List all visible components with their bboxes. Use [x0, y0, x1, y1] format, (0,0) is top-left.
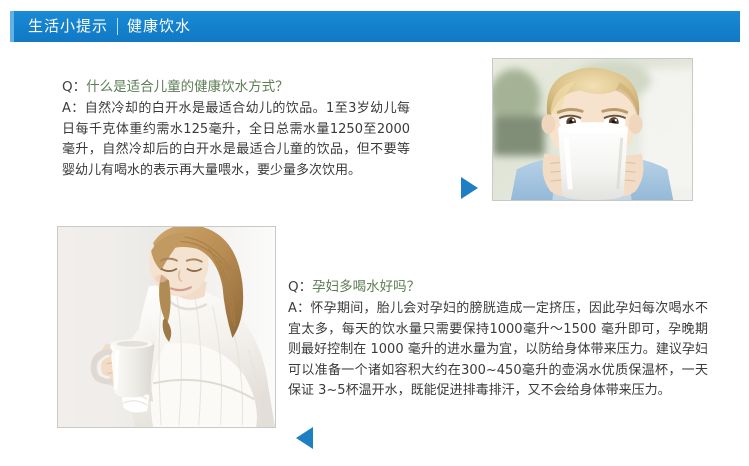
page-header-bar: 生活小提示 健康饮水: [10, 11, 740, 42]
answer-marker: A：: [62, 101, 85, 116]
header-category-label: 生活小提示: [28, 11, 108, 42]
arrow-left-icon: [296, 427, 313, 449]
header-left-accent: [10, 11, 14, 42]
question-text: 孕妇多喝水好吗？: [312, 279, 420, 295]
page-title: 健康饮水: [127, 11, 191, 42]
image-pregnant-woman: [57, 226, 276, 428]
qa-block-children-water: Q：什么是适合儿童的健康饮水方式？ A：自然冷却的白开水是最适合幼儿的饮品。1至…: [62, 77, 410, 181]
qa-block-pregnancy-water: Q：孕妇多喝水好吗？ A：怀孕期间，胎儿会对孕妇的膀胱造成一定挤压，因此孕妇每次…: [288, 277, 708, 402]
answer-text: 怀孕期间，胎儿会对孕妇的膀胱造成一定挤压，因此孕妇每次喝水不宜太多，每天的饮水量…: [288, 301, 708, 398]
question-marker: Q：: [62, 79, 86, 95]
question-marker: Q：: [288, 279, 312, 295]
header-divider: [117, 18, 118, 35]
answer-paragraph: A：怀孕期间，胎儿会对孕妇的膀胱造成一定挤压，因此孕妇每次喝水不宜太多，每天的饮…: [288, 299, 708, 402]
answer-paragraph: A：自然冷却的白开水是最适合幼儿的饮品。1至3岁幼儿每日每千克体重约需水125毫…: [62, 99, 410, 181]
question-line: Q：什么是适合儿童的健康饮水方式？: [62, 77, 410, 98]
question-text: 什么是适合儿童的健康饮水方式？: [86, 79, 289, 95]
arrow-right-icon: [461, 177, 478, 199]
pregnant-woman-illustration: [58, 227, 275, 427]
image-boy-drinking: [492, 58, 693, 201]
answer-marker: A：: [288, 301, 310, 316]
boy-drinking-illustration: [493, 59, 692, 200]
question-line: Q：孕妇多喝水好吗？: [288, 277, 708, 298]
answer-text: 自然冷却的白开水是最适合幼儿的饮品。1至3岁幼儿每日每千克体重约需水125毫升，…: [62, 101, 410, 178]
header-title-group: 生活小提示 健康饮水: [28, 11, 191, 42]
